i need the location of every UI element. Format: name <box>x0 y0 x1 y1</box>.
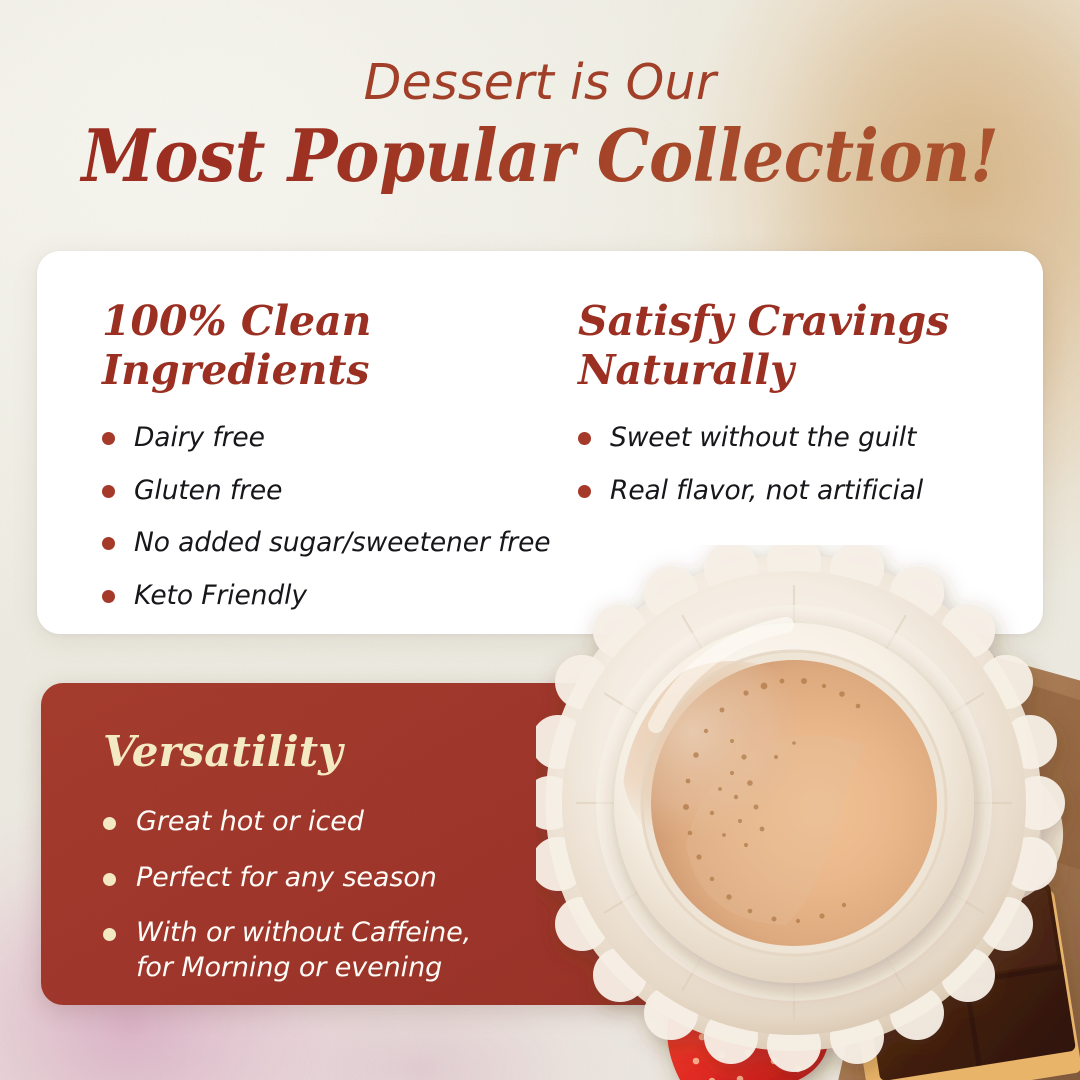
feature-list: Dairy free Gluten free No added sugar/sw… <box>102 421 557 612</box>
list-item-label: With or without Caffeine, for Morning or… <box>136 917 471 983</box>
list-item-label: No added sugar/sweetener free <box>134 527 551 558</box>
list-item-label: Dairy free <box>134 422 265 453</box>
list-item-label: Perfect for any season <box>136 862 437 893</box>
bullet-dot-icon <box>103 873 116 886</box>
column-title: Satisfy Cravings Naturally <box>578 297 997 395</box>
list-item: Keto Friendly <box>102 579 557 612</box>
list-item: Sweet without the guilt <box>578 421 997 454</box>
list-item: Gluten free <box>102 474 557 507</box>
bullet-dot-icon <box>102 432 115 445</box>
poster-canvas: Dessert is Our Most Popular Collection! … <box>0 0 1080 1080</box>
bullet-dot-icon <box>102 590 115 603</box>
list-item: Real flavor, not artificial <box>578 474 997 507</box>
list-item-label: Great hot or iced <box>136 806 364 837</box>
headline-main: Most Popular Collection! <box>43 119 1037 194</box>
list-item-label: Keto Friendly <box>134 580 307 611</box>
bullet-dot-icon <box>103 928 116 941</box>
headline-block: Dessert is Our Most Popular Collection! <box>0 58 1080 194</box>
bullet-dot-icon <box>102 537 115 550</box>
features-column-clean-ingredients: 100% Clean Ingredients Dairy free Gluten… <box>37 297 557 634</box>
bullet-dot-icon <box>578 432 591 445</box>
latte-cup-photo <box>536 545 1080 1080</box>
list-item-label: Real flavor, not artificial <box>610 475 923 506</box>
coffee-cup <box>614 623 974 983</box>
bullet-dot-icon <box>578 485 591 498</box>
bullet-dot-icon <box>102 485 115 498</box>
headline-subline: Dessert is Our <box>0 58 1080 107</box>
feature-list: Sweet without the guilt Real flavor, not… <box>578 421 997 507</box>
list-item-label: Sweet without the guilt <box>610 422 916 453</box>
list-item: Dairy free <box>102 421 557 454</box>
bullet-dot-icon <box>103 817 116 830</box>
list-item-label: Gluten free <box>134 475 282 506</box>
list-item: No added sugar/sweetener free <box>102 526 557 559</box>
column-title: 100% Clean Ingredients <box>102 297 557 395</box>
